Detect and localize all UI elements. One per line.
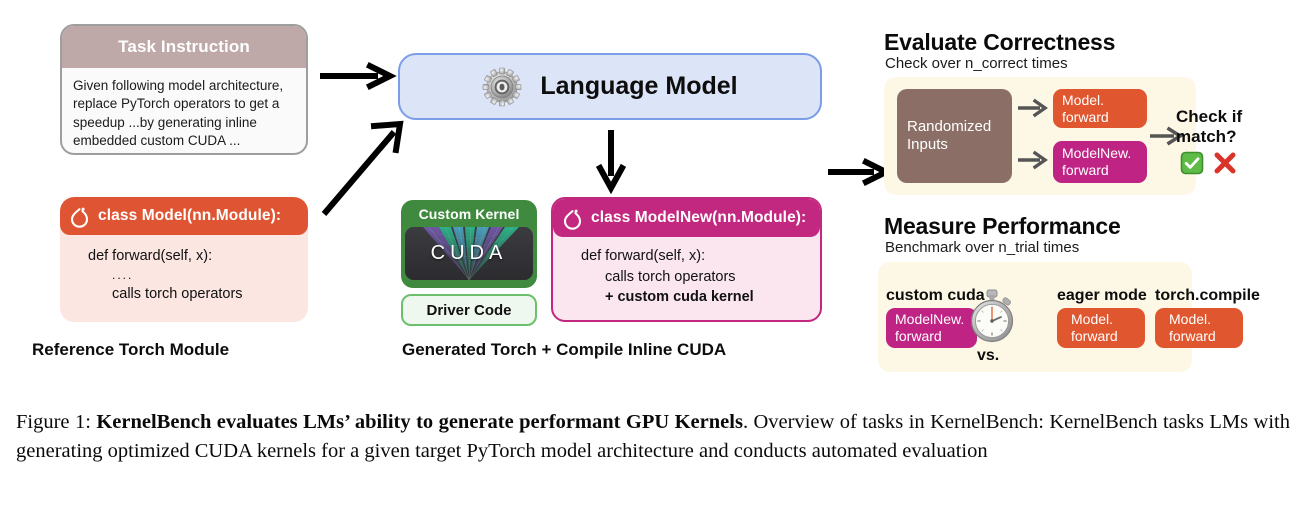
perf-box-custom-cuda: ModelNew. forward <box>886 308 977 348</box>
custom-kernel-header: Custom Kernel <box>401 200 537 227</box>
reference-module-card: class Model(nn.Module): def forward(self… <box>60 197 308 322</box>
eval-modelnew-forward-line-1: ModelNew. <box>1062 145 1147 162</box>
driver-code-card: Driver Code <box>401 294 537 326</box>
check-match-label: Check if match? <box>1176 107 1242 147</box>
eval-model-forward-line-1: Model. <box>1062 92 1147 109</box>
reference-module-line-3: calls torch operators <box>60 284 308 305</box>
perf-heading-torch-compile: torch.compile <box>1155 287 1260 305</box>
eval-model-forward-box: Model. forward <box>1053 89 1147 128</box>
perf-box-eager-mode: Model. forward <box>1057 308 1145 348</box>
generated-module-body: def forward(self, x): calls torch operat… <box>553 237 820 308</box>
red-cross-icon <box>1212 150 1238 176</box>
reference-module-header: class Model(nn.Module): <box>60 197 308 235</box>
arrow-lm-down <box>596 128 626 192</box>
caption-prefix: Figure 1: <box>16 411 96 433</box>
randomized-inputs-box: Randomized Inputs <box>897 89 1012 183</box>
vs-label: vs. <box>977 347 999 365</box>
task-instruction-header: Task Instruction <box>62 26 306 68</box>
arrow-model-to-lm <box>316 118 408 220</box>
evaluate-correctness-title: Evaluate Correctness <box>884 29 1115 56</box>
arrow-task-to-lm <box>318 62 396 90</box>
language-model-box[interactable]: Language Model <box>398 53 822 120</box>
language-model-label: Language Model <box>540 72 737 101</box>
perf-box-eager-mode-line-2: forward <box>1071 328 1145 345</box>
generated-module-line-2: calls torch operators <box>553 267 820 288</box>
cuda-label: CUDA <box>431 242 508 265</box>
measure-performance-title: Measure Performance <box>884 213 1121 240</box>
reference-module-line-1: def forward(self, x): <box>60 246 308 267</box>
randomized-inputs-label: Randomized Inputs <box>907 118 1012 154</box>
reference-module-title: class Model(nn.Module): <box>98 207 281 225</box>
generated-module-line-1: def forward(self, x): <box>553 246 820 267</box>
evaluate-correctness-subtitle: Check over n_correct times <box>885 55 1068 72</box>
task-instruction-body: Given following model architecture, repl… <box>62 68 306 151</box>
measure-performance-subtitle: Benchmark over n_trial times <box>885 239 1079 256</box>
check-match-line-1: Check if <box>1176 107 1242 127</box>
driver-code-label: Driver Code <box>426 302 511 319</box>
custom-kernel-card: Custom Kernel <box>401 200 537 288</box>
perf-box-torch-compile: Model. forward <box>1155 308 1243 348</box>
cuda-texture-panel: CUDA <box>405 227 533 280</box>
gear-icon <box>482 67 522 107</box>
perf-heading-eager-mode: eager mode <box>1057 287 1147 305</box>
eval-model-forward-line-2: forward <box>1062 109 1147 126</box>
reference-module-line-2: .... <box>60 267 308 284</box>
generated-module-card: class ModelNew(nn.Module): def forward(s… <box>551 197 822 322</box>
generated-module-line-3: + custom cuda kernel <box>553 287 820 308</box>
perf-box-torch-compile-line-2: forward <box>1169 328 1243 345</box>
caption-bold: KernelBench evaluates LMs’ ability to ge… <box>96 411 743 433</box>
perf-box-torch-compile-line-1: Model. <box>1169 311 1243 328</box>
eval-modelnew-forward-box: ModelNew. forward <box>1053 141 1147 183</box>
pytorch-flame-icon <box>70 206 89 227</box>
eval-modelnew-forward-line-2: forward <box>1062 162 1147 179</box>
arrow-generated-to-eval <box>826 158 892 186</box>
arrow-inputs-to-model <box>1018 98 1050 118</box>
stopwatch-icon <box>966 288 1018 344</box>
check-match-line-2: match? <box>1176 127 1242 147</box>
reference-module-caption: Reference Torch Module <box>32 340 229 360</box>
perf-box-eager-mode-line-1: Model. <box>1071 311 1145 328</box>
reference-module-body: def forward(self, x): .... calls torch o… <box>60 235 308 305</box>
figure-container: Task Instruction Given following model a… <box>0 0 1306 524</box>
green-checkmark-icon <box>1180 151 1204 175</box>
generated-module-title: class ModelNew(nn.Module): <box>591 209 806 227</box>
generated-module-header: class ModelNew(nn.Module): <box>553 199 820 237</box>
arrow-inputs-to-modelnew <box>1018 150 1050 170</box>
task-instruction-card: Task Instruction Given following model a… <box>60 24 308 155</box>
perf-box-custom-cuda-line-1: ModelNew. <box>895 311 977 328</box>
generated-module-caption: Generated Torch + Compile Inline CUDA <box>402 340 726 360</box>
figure-caption: Figure 1: KernelBench evaluates LMs’ abi… <box>16 408 1290 466</box>
perf-box-custom-cuda-line-2: forward <box>895 328 977 345</box>
pytorch-flame-icon <box>563 208 582 229</box>
